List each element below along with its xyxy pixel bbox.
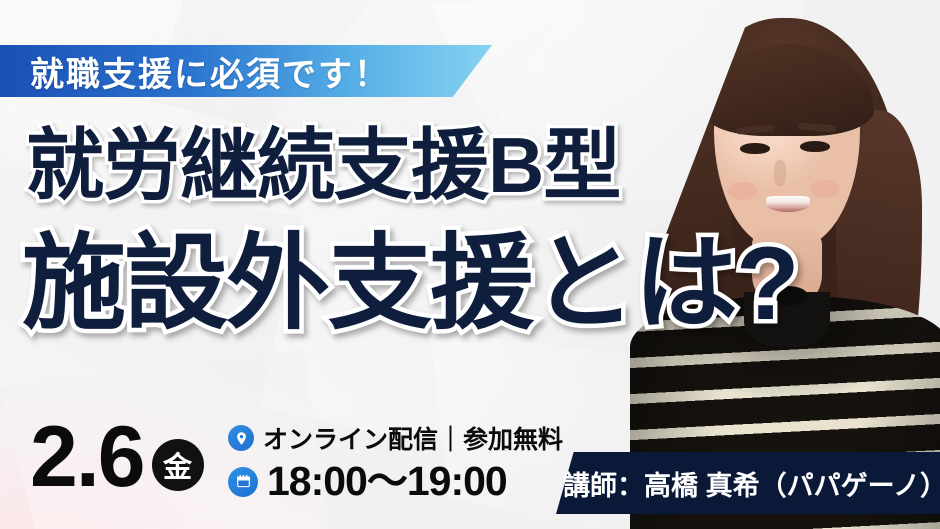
event-date-group: 2.6 金 — [30, 414, 204, 500]
cheek-right — [810, 180, 840, 198]
ribbon-label: 就職支援に必須です！ — [30, 46, 390, 96]
event-time-line: 18:00〜19:00 — [228, 461, 563, 502]
cheek-left — [728, 182, 758, 200]
speaker-label: 講師：高橋 真希（パパゲーノ） — [556, 452, 940, 514]
eye-right — [800, 141, 830, 152]
nose-shape — [774, 160, 786, 186]
eye-left — [740, 143, 770, 154]
mouth-shape — [766, 196, 810, 212]
day-of-week-badge: 金 — [152, 439, 204, 491]
location-pin-icon — [228, 425, 254, 451]
event-format-label: オンライン配信｜参加無料 — [263, 420, 563, 456]
event-date: 2.6 — [30, 414, 144, 500]
event-format-line: オンライン配信｜参加無料 — [228, 420, 563, 456]
headline-group: 就労継続支援B型 — [26, 126, 620, 204]
calendar-icon — [228, 467, 258, 497]
headline-line-2: 施設外支援とは? — [22, 232, 798, 336]
event-info-group: オンライン配信｜参加無料 18:00〜19:00 — [228, 420, 563, 502]
headline-line-1: 就労継続支援B型 — [26, 126, 620, 204]
seminar-banner: 就職支援に必須です！ 就労継続支援B型 施設外支援とは? 2.6 金 オンライン… — [0, 0, 940, 529]
event-time-label: 18:00〜19:00 — [267, 461, 507, 502]
